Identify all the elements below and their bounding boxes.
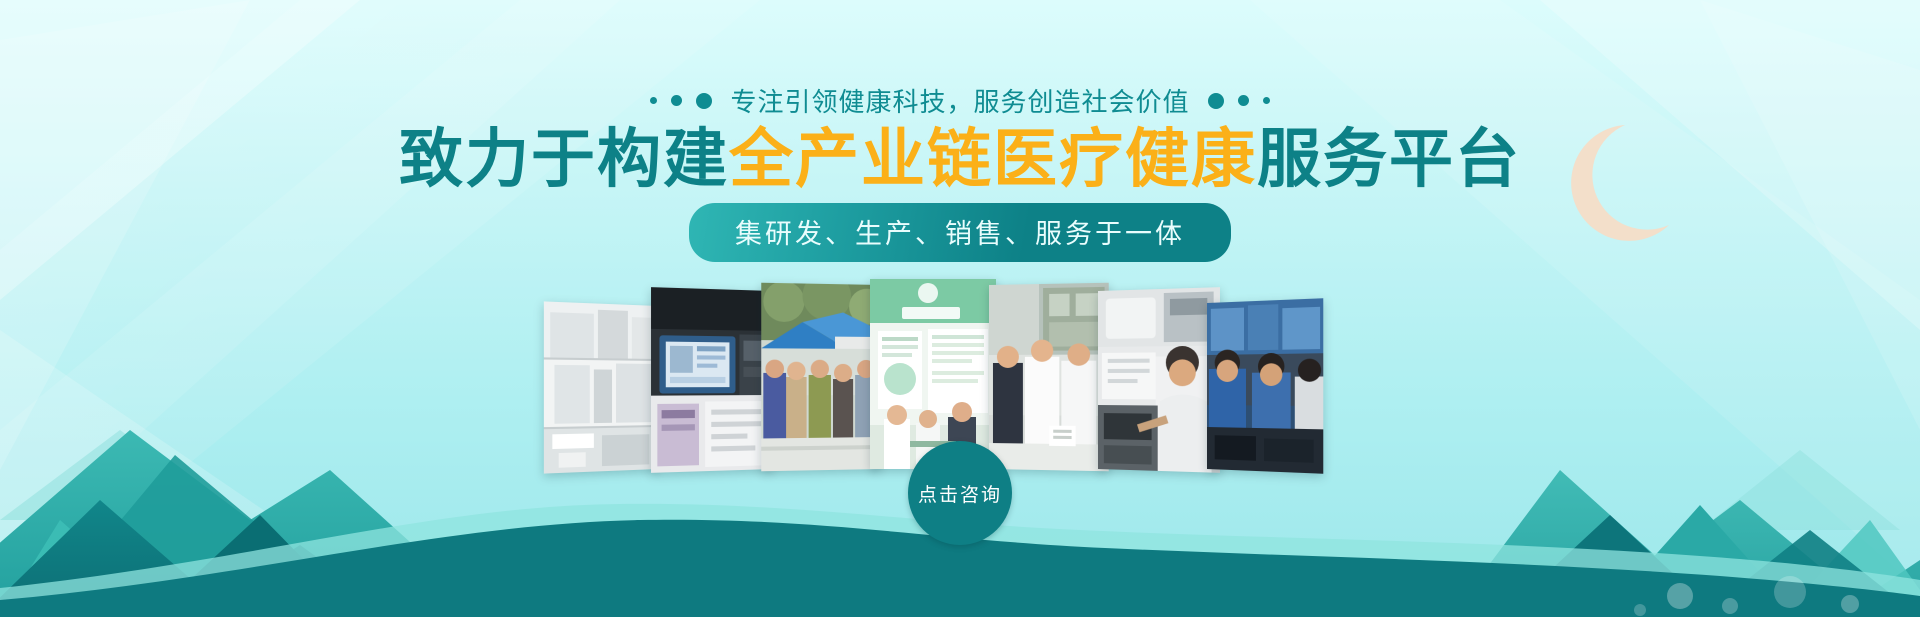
decorative-dot-large-icon xyxy=(1208,93,1224,109)
technician-at-workstation xyxy=(1098,287,1220,473)
page-title: 致力于构建全产业链医疗健康服务平台 xyxy=(0,126,1920,193)
headline-part-2-highlight: 全产业链医疗健康 xyxy=(729,123,1257,195)
photo-item[interactable] xyxy=(870,279,996,469)
photo-item[interactable] xyxy=(989,283,1109,472)
decorative-dot-small-icon xyxy=(650,97,657,104)
tagline-row: 专注引领健康科技，服务创造社会价值 xyxy=(0,82,1920,119)
community-health-station-indoor xyxy=(870,279,996,469)
decorative-dot-small-icon xyxy=(1263,97,1270,104)
decorative-dot-medium-icon xyxy=(1238,95,1249,106)
photo-item[interactable] xyxy=(761,283,881,472)
staff-working-in-blue-lab xyxy=(1207,298,1323,474)
health-screening-kiosk-with-monitor xyxy=(651,287,773,473)
photo-item[interactable] xyxy=(1207,298,1323,474)
medical-lab-automation-equipment xyxy=(544,301,658,473)
subtitle-pill: 集研发、生产、销售、服务于一体 xyxy=(689,203,1231,262)
photo-item[interactable] xyxy=(1098,287,1220,473)
decorative-dot-large-icon xyxy=(696,93,712,109)
consult-button[interactable]: 点击咨询 xyxy=(908,441,1012,545)
photo-item[interactable] xyxy=(544,301,658,473)
tagline-text: 专注引领健康科技，服务创造社会价值 xyxy=(730,82,1189,119)
subtitle-pill-wrapper: 集研发、生产、销售、服务于一体 xyxy=(0,203,1920,262)
dots-right-group xyxy=(1208,93,1270,109)
doctors-in-white-coats-outdoors xyxy=(989,283,1109,472)
dots-left-group xyxy=(650,93,712,109)
promotional-banner: 专注引领健康科技，服务创造社会价值 致力于构建全产业链医疗健康服务平台 集研发、… xyxy=(0,0,1920,617)
decorative-dot-medium-icon xyxy=(671,95,682,106)
headline-part-3: 服务平台 xyxy=(1257,123,1521,195)
photo-item[interactable] xyxy=(651,287,773,473)
outdoor-health-checkup-tent-queue xyxy=(761,283,881,472)
headline-part-1: 致力于构建 xyxy=(399,123,729,195)
